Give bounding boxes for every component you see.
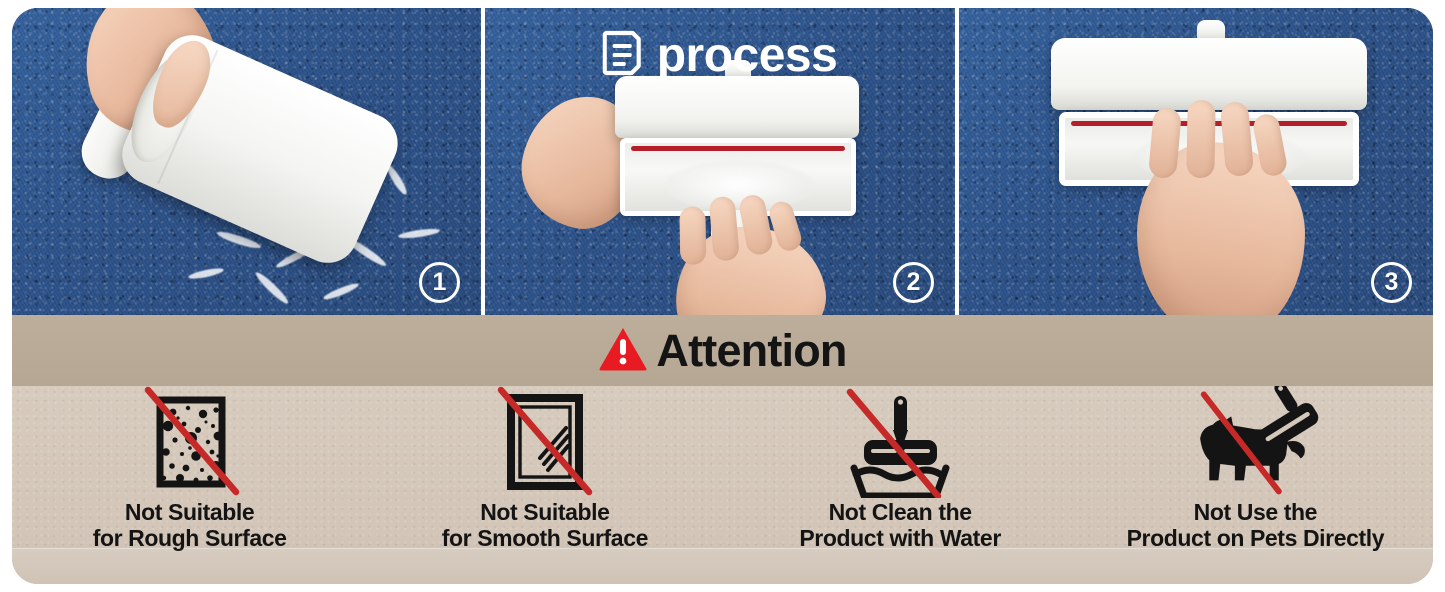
infographic-card: 1 process [12,8,1433,584]
step-number-badge-2: 2 [893,262,934,303]
attention-body: Not Suitable for Rough Surface [12,386,1433,584]
warning-caption: Not Use the Product on Pets Directly [1127,500,1385,552]
attention-header: Attention [12,315,1433,386]
roller-lid-open [615,76,859,138]
document-lines-icon [603,30,643,81]
red-strip [631,146,845,151]
step-number-badge-3: 3 [1371,262,1412,303]
roller-lid-open [1051,38,1367,110]
product-infographic: 1 process [0,0,1445,592]
hand-removing-lint [1137,142,1305,315]
process-step-3-panel: 3 [959,8,1433,315]
warning-item-no-water: Not Clean the Product with Water [723,386,1078,554]
right-hand [668,217,833,315]
smooth-surface-mirror-icon [481,386,609,498]
process-step-1-panel: 1 [12,8,481,315]
warning-grid: Not Suitable for Rough Surface [12,386,1433,554]
step-number-badge-1: 1 [419,262,460,303]
rough-surface-icon [126,386,254,498]
warning-triangle-icon [598,326,648,376]
warning-item-rough-surface: Not Suitable for Rough Surface [12,386,367,554]
process-title-label: process [657,32,838,80]
warning-caption: Not Clean the Product with Water [799,500,1001,552]
roller-on-dog-icon [1191,386,1319,498]
attention-title-label: Attention [656,328,846,373]
warning-item-no-pets: Not Use the Product on Pets Directly [1078,386,1433,554]
roller-in-water-basin-icon [836,386,964,498]
warning-item-smooth-surface: Not Suitable for Smooth Surface [367,386,722,554]
warning-caption: Not Suitable for Smooth Surface [442,500,648,552]
process-step-2-panel: process [485,8,955,315]
process-title: process [603,30,838,81]
process-strip: 1 process [12,8,1433,315]
warning-caption: Not Suitable for Rough Surface [93,500,287,552]
roller-chamber [620,138,856,216]
